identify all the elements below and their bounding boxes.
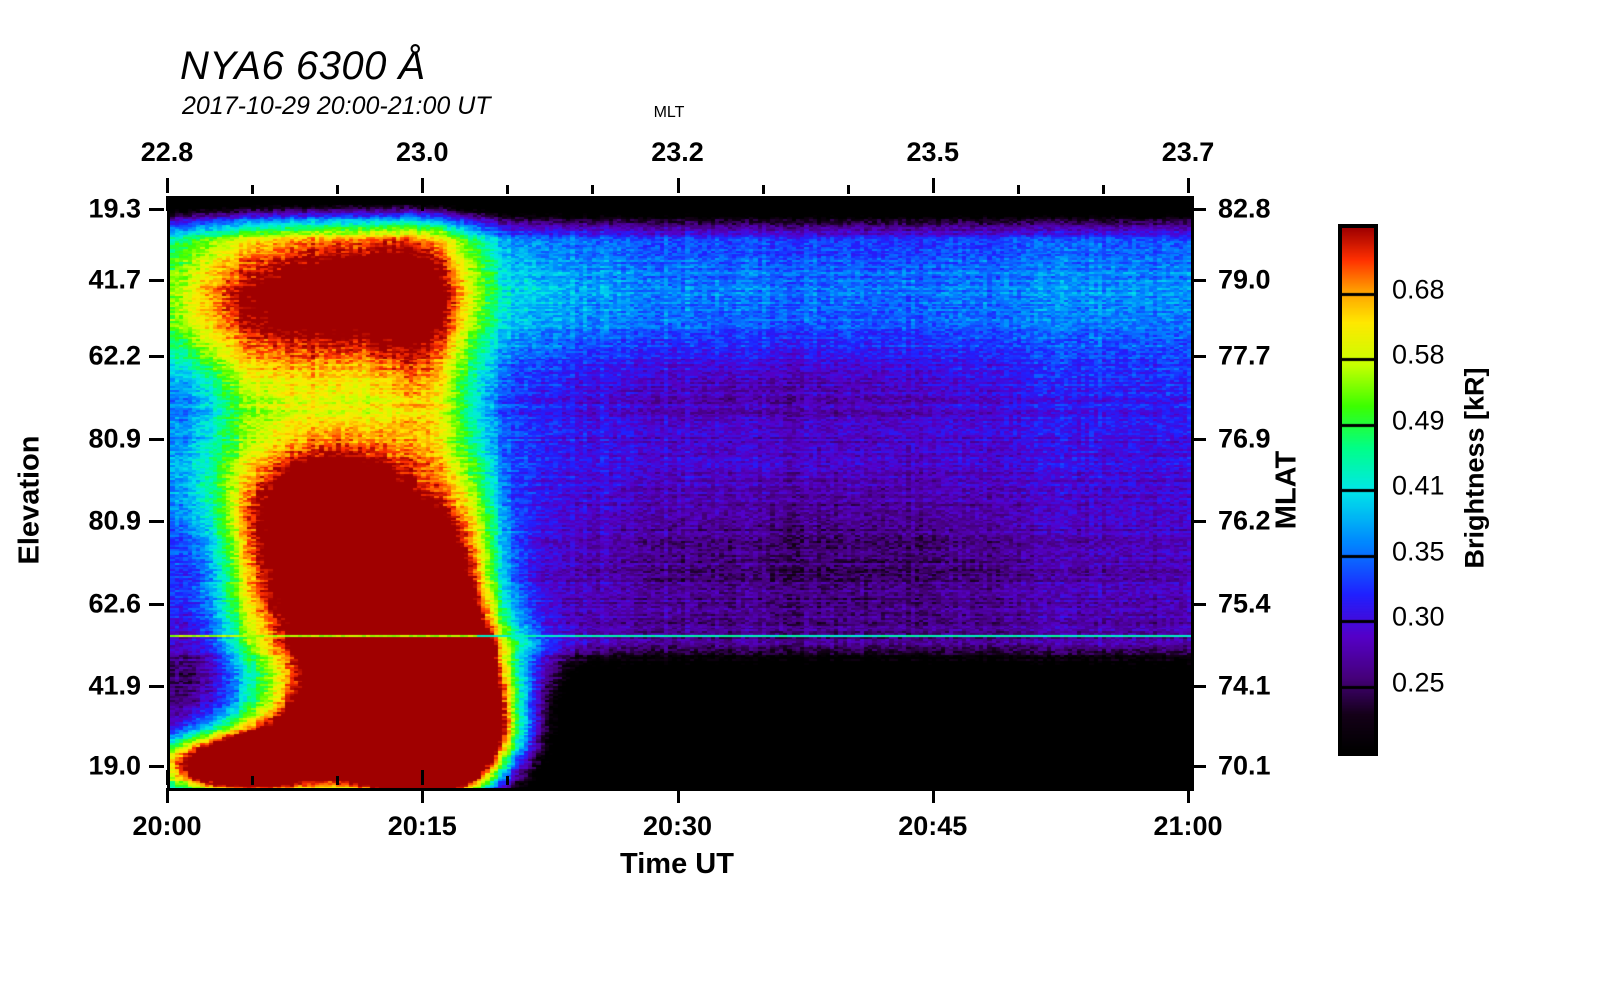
left-tick-label: 41.9 xyxy=(88,673,141,700)
axis-tick xyxy=(932,770,935,785)
right-tick-label: 79.0 xyxy=(1218,266,1271,293)
axis-tick xyxy=(1187,770,1190,785)
axis-tick xyxy=(762,185,765,194)
colorbar-tick-label: 0.25 xyxy=(1392,667,1445,698)
axis-tick xyxy=(149,355,164,358)
axis-tick xyxy=(251,196,254,205)
axis-tick xyxy=(506,196,509,205)
axis-tick xyxy=(336,185,339,194)
axis-tick xyxy=(1187,178,1190,193)
axis-tick xyxy=(762,776,765,785)
axis-tick xyxy=(149,685,164,688)
right-tick-label: 76.9 xyxy=(1218,425,1271,452)
axis-tick xyxy=(1191,520,1206,523)
bottom-axis-title: Time UT xyxy=(620,848,734,881)
keogram-image xyxy=(170,199,1191,788)
colorbar-tick-label: 0.30 xyxy=(1392,602,1445,633)
colorbar-tick-label: 0.35 xyxy=(1392,536,1445,567)
axis-tick xyxy=(591,185,594,194)
axis-tick xyxy=(166,788,169,803)
axis-tick xyxy=(1191,279,1206,282)
axis-tick xyxy=(677,178,680,193)
axis-tick xyxy=(1017,776,1020,785)
axis-tick xyxy=(1017,196,1020,205)
axis-tick xyxy=(149,765,164,768)
colorbar-gradient xyxy=(1342,228,1374,752)
top-tick-label: 23.2 xyxy=(651,139,704,166)
axis-tick xyxy=(506,185,509,194)
axis-tick xyxy=(149,438,164,441)
axis-tick xyxy=(421,770,424,785)
axis-tick xyxy=(847,196,850,205)
axis-tick xyxy=(932,196,935,211)
right-tick-label: 77.7 xyxy=(1218,343,1271,370)
right-axis-title: MLAT xyxy=(1271,451,1304,529)
left-tick-label: 80.9 xyxy=(88,508,141,535)
axis-tick xyxy=(251,185,254,194)
axis-tick xyxy=(506,776,509,785)
axis-tick xyxy=(847,776,850,785)
axis-tick xyxy=(1191,438,1206,441)
axis-tick xyxy=(149,208,164,211)
left-tick-label: 62.2 xyxy=(88,343,141,370)
top-tick-label: 23.7 xyxy=(1162,139,1215,166)
axis-tick xyxy=(677,788,680,803)
left-axis-title: Elevation xyxy=(14,436,47,565)
top-axis-title: MLT xyxy=(654,104,685,122)
axis-tick xyxy=(1191,765,1206,768)
axis-tick xyxy=(591,196,594,205)
axis-tick xyxy=(149,279,164,282)
axis-tick xyxy=(421,178,424,193)
bottom-tick-label: 20:15 xyxy=(388,813,457,840)
axis-tick xyxy=(1102,185,1105,194)
axis-tick xyxy=(149,520,164,523)
right-tick-label: 70.1 xyxy=(1218,753,1271,780)
axis-tick xyxy=(166,770,169,785)
right-tick-label: 74.1 xyxy=(1218,673,1271,700)
page-subtitle: 2017-10-29 20:00-21:00 UT xyxy=(182,92,491,121)
top-tick-label: 23.0 xyxy=(396,139,449,166)
axis-tick xyxy=(1191,355,1206,358)
left-tick-label: 41.7 xyxy=(88,266,141,293)
axis-tick xyxy=(932,788,935,803)
axis-tick xyxy=(847,185,850,194)
axis-tick xyxy=(677,196,680,211)
axis-tick xyxy=(932,178,935,193)
axis-tick xyxy=(1017,185,1020,194)
bottom-tick-label: 20:00 xyxy=(132,813,201,840)
axis-tick xyxy=(677,770,680,785)
axis-tick xyxy=(421,788,424,803)
axis-tick xyxy=(1187,196,1190,211)
top-tick-label: 23.5 xyxy=(906,139,959,166)
axis-tick xyxy=(1187,788,1190,803)
colorbar-tick-label: 0.41 xyxy=(1392,471,1445,502)
axis-tick xyxy=(1191,208,1206,211)
top-tick-label: 22.8 xyxy=(141,139,194,166)
axis-tick xyxy=(591,776,594,785)
bottom-tick-label: 20:45 xyxy=(898,813,967,840)
axis-tick xyxy=(1102,776,1105,785)
axis-tick xyxy=(421,196,424,211)
left-tick-label: 19.3 xyxy=(88,195,141,222)
left-tick-label: 80.9 xyxy=(88,425,141,452)
colorbar xyxy=(1338,224,1378,756)
axis-tick xyxy=(149,603,164,606)
axis-tick xyxy=(336,196,339,205)
axis-tick xyxy=(762,196,765,205)
axis-tick xyxy=(1191,603,1206,606)
axis-tick xyxy=(336,776,339,785)
axis-tick xyxy=(251,776,254,785)
left-tick-label: 62.6 xyxy=(88,590,141,617)
axis-tick xyxy=(166,196,169,211)
left-tick-label: 19.0 xyxy=(88,753,141,780)
bottom-tick-label: 21:00 xyxy=(1153,813,1222,840)
axis-tick xyxy=(1102,196,1105,205)
bottom-tick-label: 20:30 xyxy=(643,813,712,840)
axis-tick xyxy=(166,178,169,193)
colorbar-tick-label: 0.68 xyxy=(1392,274,1445,305)
right-tick-label: 76.2 xyxy=(1218,508,1271,535)
colorbar-tick-label: 0.49 xyxy=(1392,405,1445,436)
axis-tick xyxy=(1191,685,1206,688)
colorbar-title: Brightness [kR] xyxy=(1460,367,1491,568)
right-tick-label: 82.8 xyxy=(1218,195,1271,222)
page-title: NYA6 6300 Å xyxy=(180,44,426,89)
keogram-plot-area xyxy=(167,196,1194,791)
right-tick-label: 75.4 xyxy=(1218,590,1271,617)
colorbar-tick-label: 0.58 xyxy=(1392,340,1445,371)
